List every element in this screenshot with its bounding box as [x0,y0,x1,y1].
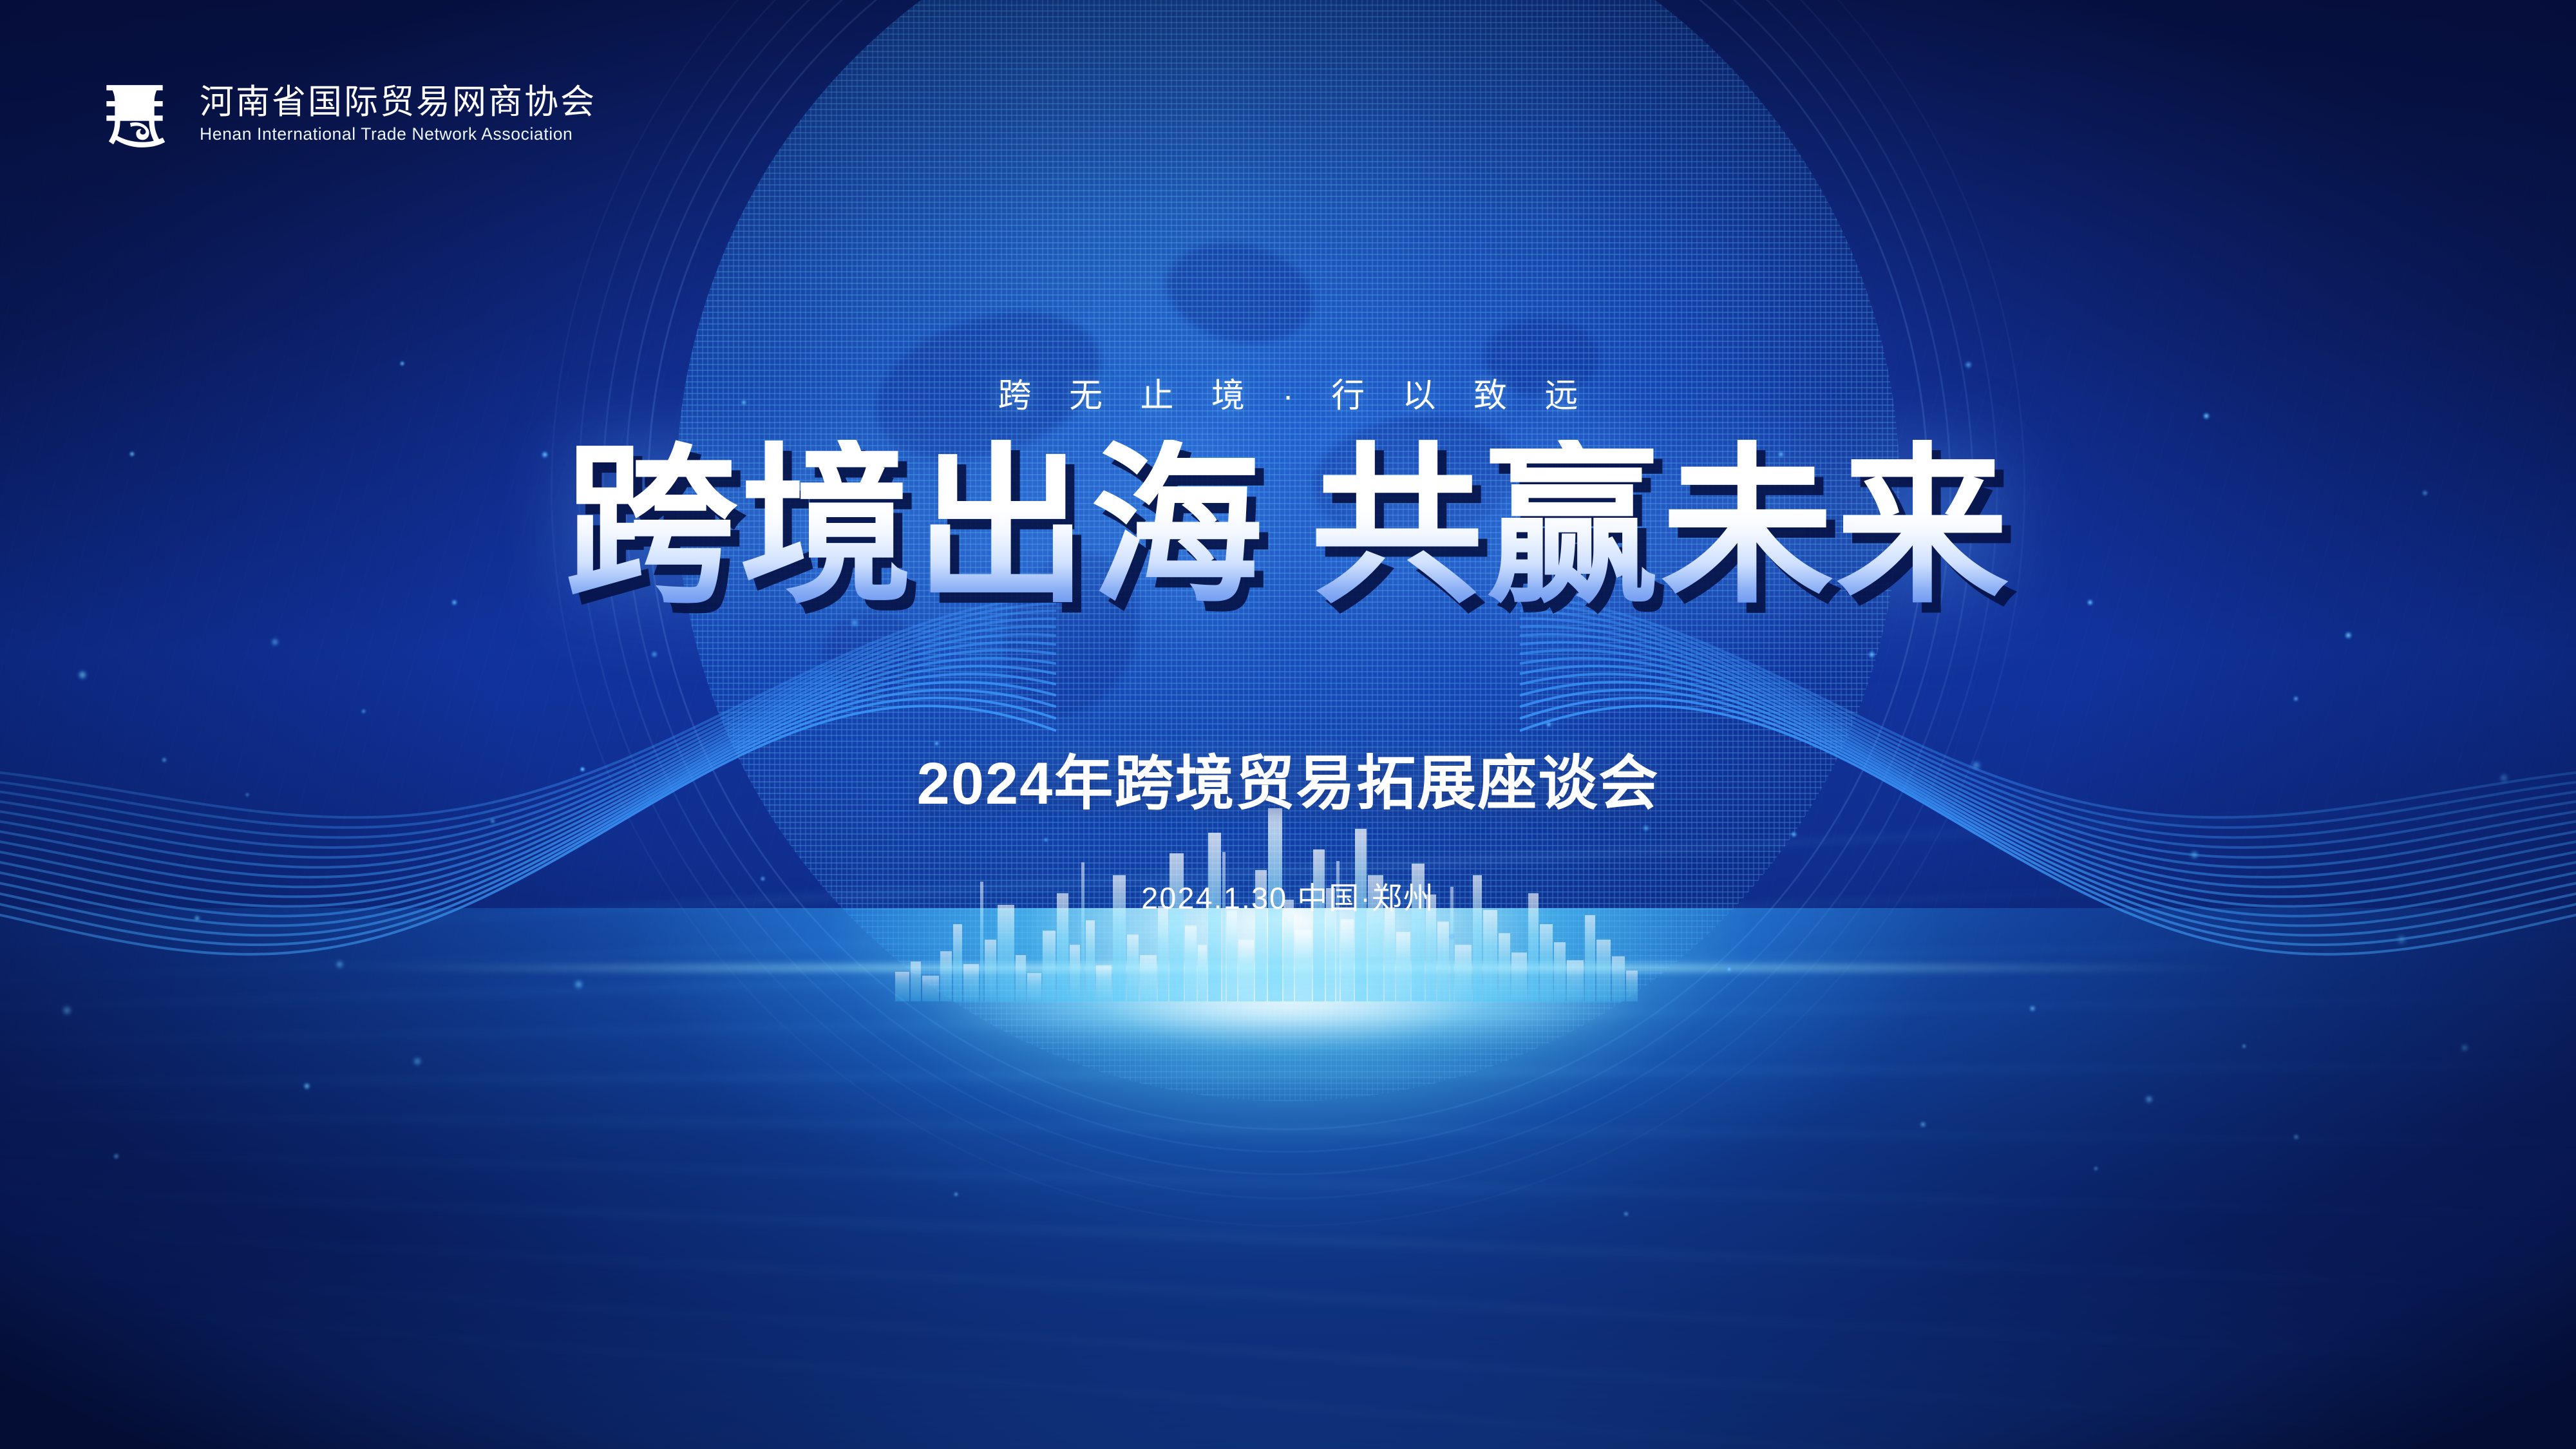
poster-title-part1: 跨境出海 [565,440,1265,612]
poster-date-location: 2024.1.30 中国·郑州 [0,873,2576,918]
brand-name-en: Henan International Trade Network Associ… [200,126,596,143]
poster-title-part2: 共赢未来 [1311,440,2011,612]
poster-canvas: 河南省国际贸易网商协会 Henan International Trade Ne… [0,0,2576,1449]
poster-title: 跨境出海共赢未来 [0,440,2576,612]
brand-text: 河南省国际贸易网商协会 Henan International Trade Ne… [200,85,596,143]
poster-content: 河南省国际贸易网商协会 Henan International Trade Ne… [0,0,2576,1449]
association-logo[interactable]: 河南省国际贸易网商协会 Henan International Trade Ne… [97,76,596,152]
poster-subtitle: 2024年跨境贸易拓展座谈会 [0,750,2576,819]
poster-tagline: 跨 无 止 境 · 行 以 致 远 [0,368,2576,417]
brand-name-cn: 河南省国际贸易网商协会 [200,85,596,119]
henan-seal-logo-icon [97,76,173,152]
